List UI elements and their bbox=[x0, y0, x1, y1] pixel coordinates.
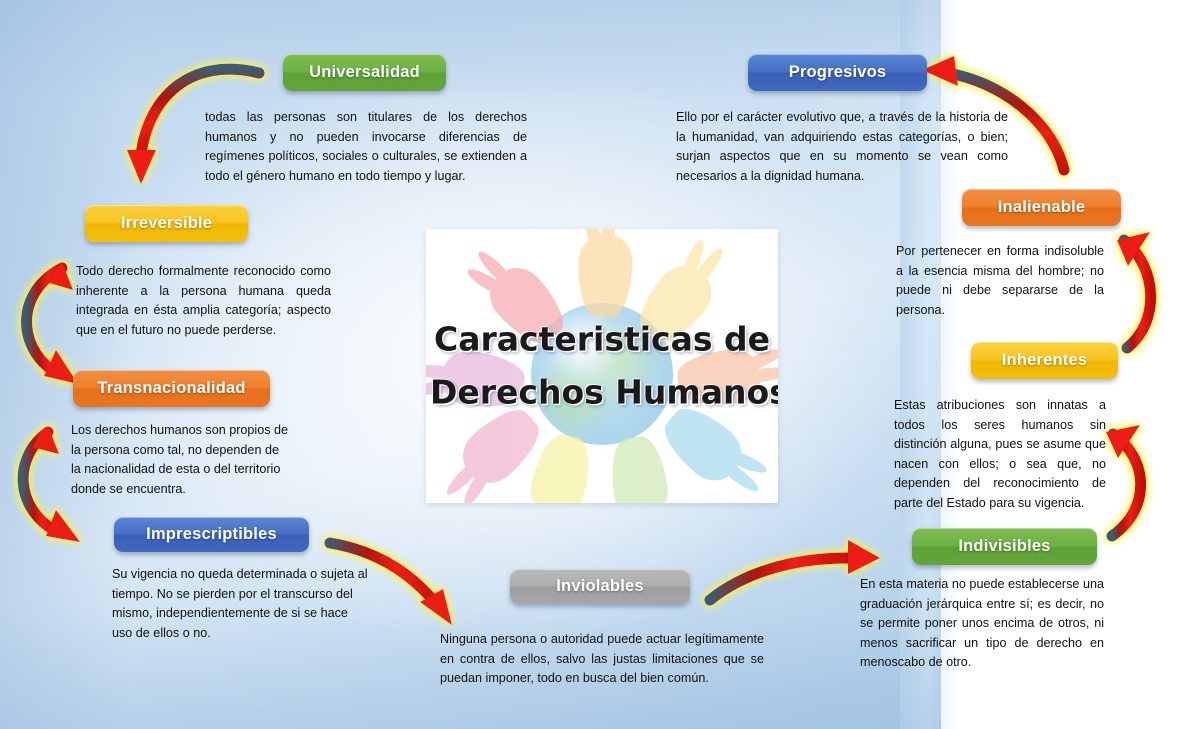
node-label-progresivos: Progresivos bbox=[789, 63, 887, 82]
arrow-inherentes-to-inalienable bbox=[1117, 232, 1151, 348]
node-pill-inviolables[interactable]: Inviolables bbox=[510, 569, 690, 604]
infographic-canvas: Universalidad todas las personas son tit… bbox=[0, 0, 1200, 729]
hand-graphic bbox=[577, 234, 634, 318]
node-pill-transnacionalidad[interactable]: Transnacionalidad bbox=[73, 370, 270, 407]
node-body-inviolables: Ninguna persona o autoridad puede actuar… bbox=[440, 630, 764, 689]
node-label-inalienable: Inalienable bbox=[998, 198, 1085, 217]
node-label-indivisibles: Indivisibles bbox=[958, 537, 1050, 556]
node-pill-irreversible[interactable]: Irreversible bbox=[85, 205, 248, 242]
node-label-imprescriptibles: Imprescriptibles bbox=[146, 525, 277, 544]
node-pill-universalidad[interactable]: Universalidad bbox=[283, 54, 446, 91]
node-pill-indivisibles[interactable]: Indivisibles bbox=[912, 528, 1097, 565]
arrow-indivisibles-to-inherentes bbox=[1106, 425, 1141, 536]
center-title-line-1: Caracteristicas de bbox=[430, 313, 774, 366]
hand-graphic bbox=[607, 434, 672, 503]
node-pill-progresivos[interactable]: Progresivos bbox=[748, 54, 927, 91]
node-body-inalienable: Por pertenecer en forma indisoluble a la… bbox=[896, 242, 1104, 320]
node-body-imprescriptibles: Su vigencia no queda determinada o sujet… bbox=[112, 565, 371, 643]
center-title: Caracteristicas de Derechos Humanos bbox=[426, 313, 778, 420]
node-label-irreversible: Irreversible bbox=[121, 214, 212, 233]
node-pill-inalienable[interactable]: Inalienable bbox=[962, 189, 1121, 226]
node-body-indivisibles: En esta materia no puede establecerse un… bbox=[860, 575, 1104, 673]
node-body-universalidad: todas las personas son titulares de los … bbox=[205, 108, 527, 186]
node-label-inherentes: Inherentes bbox=[1002, 351, 1087, 370]
node-body-progresivos: Ello por el carácter evolutivo que, a tr… bbox=[676, 108, 1008, 186]
center-title-line-2: Derechos Humanos bbox=[430, 366, 774, 419]
center-image-card: Caracteristicas de Derechos Humanos bbox=[426, 229, 778, 503]
node-body-transnacionalidad: Los derechos humanos son propios de la p… bbox=[71, 421, 291, 499]
node-pill-inherentes[interactable]: Inherentes bbox=[971, 342, 1118, 379]
node-body-irreversible: Todo derecho formalmente reconocido como… bbox=[76, 262, 331, 340]
node-label-transnacionalidad: Transnacionalidad bbox=[97, 379, 245, 398]
node-body-inherentes: Estas atribuciones son innatas a todos l… bbox=[894, 396, 1106, 513]
node-label-universalidad: Universalidad bbox=[309, 63, 420, 82]
node-label-inviolables: Inviolables bbox=[556, 577, 643, 596]
node-pill-imprescriptibles[interactable]: Imprescriptibles bbox=[114, 517, 309, 552]
